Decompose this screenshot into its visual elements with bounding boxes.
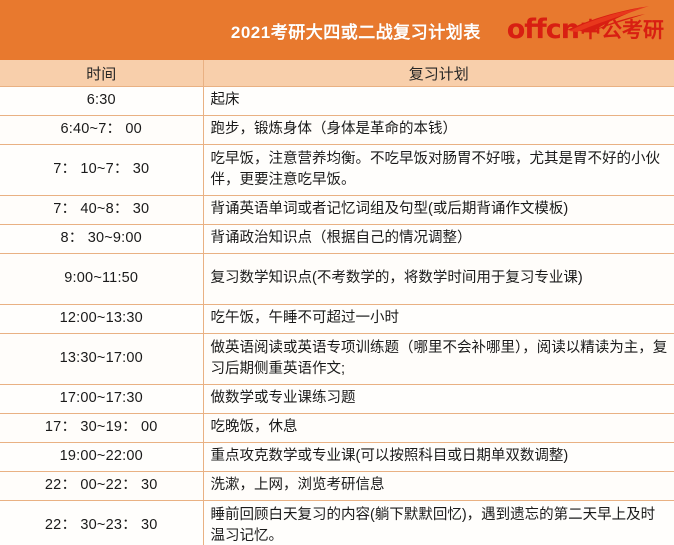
schedule-table-wrapper: 时间 复习计划 6:30起床6:40~7： 00跑步，锻炼身体（身体是革命的本钱… xyxy=(0,60,674,545)
column-header-time: 时间 xyxy=(0,60,203,87)
table-head: 时间 复习计划 xyxy=(0,60,674,87)
table-row: 7： 40~8： 30背诵英语单词或者记忆词组及句型(或后期背诵作文模板) xyxy=(0,196,674,225)
schedule-table: 时间 复习计划 6:30起床6:40~7： 00跑步，锻炼身体（身体是革命的本钱… xyxy=(0,60,674,545)
cell-time: 17:00~17:30 xyxy=(0,385,203,414)
table-row: 22： 30~23： 30睡前回顾白天复习的内容(躺下默默回忆)，遇到遗忘的第二… xyxy=(0,501,674,545)
cell-time: 6:30 xyxy=(0,87,203,116)
cell-plan: 吃午饭，午睡不可超过一小时 xyxy=(203,305,674,334)
cell-time: 7： 10~7： 30 xyxy=(0,145,203,196)
table-row: 7： 10~7： 30吃早饭，注意营养均衡。不吃早饭对肠胃不好哦，尤其是胃不好的… xyxy=(0,145,674,196)
plan-table-page: 2021考研大四或二战复习计划表 offcn 中公考研 中公考研网中公考研网中公… xyxy=(0,0,674,545)
cell-time: 22： 00~22： 30 xyxy=(0,472,203,501)
table-row: 12:00~13:30吃午饭，午睡不可超过一小时 xyxy=(0,305,674,334)
table-header-row: 时间 复习计划 xyxy=(0,60,674,87)
table-row: 8： 30~9:00背诵政治知识点（根据自己的情况调整） xyxy=(0,225,674,254)
table-row: 19:00~22:00重点攻克数学或专业课(可以按照科目或日期单双数调整) xyxy=(0,443,674,472)
cell-time: 9:00~11:50 xyxy=(0,254,203,305)
cell-plan: 背诵英语单词或者记忆词组及句型(或后期背诵作文模板) xyxy=(203,196,674,225)
table-row: 6:40~7： 00跑步，锻炼身体（身体是革命的本钱） xyxy=(0,116,674,145)
cell-plan: 跑步，锻炼身体（身体是革命的本钱） xyxy=(203,116,674,145)
cell-time: 6:40~7： 00 xyxy=(0,116,203,145)
cell-time: 19:00~22:00 xyxy=(0,443,203,472)
cell-plan: 睡前回顾白天复习的内容(躺下默默回忆)，遇到遗忘的第二天早上及时温习记忆。 xyxy=(203,501,674,545)
cell-time: 22： 30~23： 30 xyxy=(0,501,203,545)
cell-time: 17： 30~19： 00 xyxy=(0,414,203,443)
table-row: 6:30起床 xyxy=(0,87,674,116)
cell-plan: 做英语阅读或英语专项训练题（哪里不会补哪里），阅读以精读为主，复习后期侧重英语作… xyxy=(203,334,674,385)
table-row: 22： 00~22： 30洗漱，上网，浏览考研信息 xyxy=(0,472,674,501)
cell-plan: 吃晚饭，休息 xyxy=(203,414,674,443)
cell-plan: 重点攻克数学或专业课(可以按照科目或日期单双数调整) xyxy=(203,443,674,472)
table-row: 13:30~17:00做英语阅读或英语专项训练题（哪里不会补哪里），阅读以精读为… xyxy=(0,334,674,385)
cell-time: 12:00~13:30 xyxy=(0,305,203,334)
table-body: 6:30起床6:40~7： 00跑步，锻炼身体（身体是革命的本钱）7： 10~7… xyxy=(0,87,674,545)
cell-plan: 吃早饭，注意营养均衡。不吃早饭对肠胃不好哦，尤其是胃不好的小伙伴，更要注意吃早饭… xyxy=(203,145,674,196)
offcn-wordmark: offcn xyxy=(507,17,579,43)
offcn-logo: offcn 中公考研 xyxy=(507,17,668,43)
cell-time: 8： 30~9:00 xyxy=(0,225,203,254)
table-row: 17:00~17:30做数学或专业课练习题 xyxy=(0,385,674,414)
page-banner: 2021考研大四或二战复习计划表 offcn 中公考研 xyxy=(0,0,674,60)
cell-plan: 起床 xyxy=(203,87,674,116)
cell-plan: 背诵政治知识点（根据自己的情况调整） xyxy=(203,225,674,254)
page-title: 2021考研大四或二战复习计划表 xyxy=(231,18,481,43)
cell-plan: 洗漱，上网，浏览考研信息 xyxy=(203,472,674,501)
column-header-plan: 复习计划 xyxy=(203,60,674,87)
table-row: 9:00~11:50复习数学知识点(不考数学的，将数学时间用于复习专业课) xyxy=(0,254,674,305)
table-row: 17： 30~19： 00吃晚饭，休息 xyxy=(0,414,674,443)
cell-plan: 做数学或专业课练习题 xyxy=(203,385,674,414)
cell-plan: 复习数学知识点(不考数学的，将数学时间用于复习专业课) xyxy=(203,254,674,305)
offcn-logo-chinese: 中公考研 xyxy=(580,18,664,43)
cell-time: 13:30~17:00 xyxy=(0,334,203,385)
cell-time: 7： 40~8： 30 xyxy=(0,196,203,225)
